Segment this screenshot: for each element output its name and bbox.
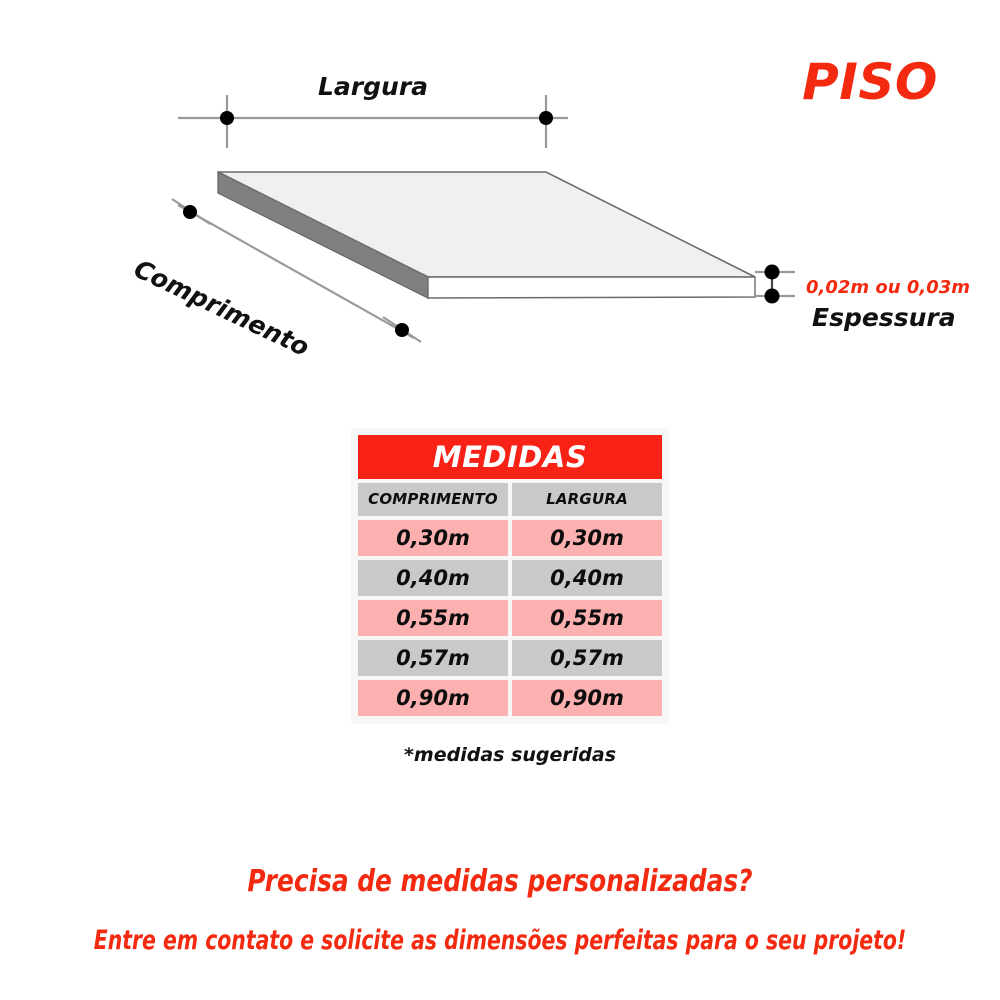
width-dimension-label: Largura <box>318 72 428 101</box>
slab-diagram-svg <box>0 0 1000 400</box>
cell-comprimento: 0,55m <box>358 600 508 636</box>
width-marker-right <box>539 111 553 125</box>
width-marker-left <box>220 111 234 125</box>
cta-subline: Entre em contato e solicite as dimensões… <box>80 925 920 956</box>
table-row: 0,30m 0,30m <box>358 520 662 556</box>
table-row: 0,55m 0,55m <box>358 600 662 636</box>
cell-largura: 0,57m <box>512 640 662 676</box>
thickness-marker-bottom <box>765 289 780 304</box>
slab-front-face <box>428 277 755 298</box>
cta-headline: Precisa de medidas personalizadas? <box>40 864 960 899</box>
cell-largura: 0,90m <box>512 680 662 716</box>
column-header-largura: LARGURA <box>512 483 662 516</box>
length-marker-top <box>183 205 197 219</box>
measures-table-title: MEDIDAS <box>358 435 662 479</box>
cell-largura: 0,55m <box>512 600 662 636</box>
cell-largura: 0,30m <box>512 520 662 556</box>
measures-table: MEDIDAS COMPRIMENTO LARGURA 0,30m 0,30m … <box>351 428 669 724</box>
column-header-comprimento: COMPRIMENTO <box>358 483 508 516</box>
thickness-dimension-label: Espessura <box>812 303 956 332</box>
cell-largura: 0,40m <box>512 560 662 596</box>
table-header-row: COMPRIMENTO LARGURA <box>358 483 662 516</box>
thickness-marker-top <box>765 265 780 280</box>
cell-comprimento: 0,57m <box>358 640 508 676</box>
cell-comprimento: 0,90m <box>358 680 508 716</box>
slab-diagram: Largura Comprimento 0,02m ou 0,03m Espes… <box>0 0 1000 400</box>
table-row: 0,40m 0,40m <box>358 560 662 596</box>
page-root: PISO <box>0 0 1000 1000</box>
width-dimension <box>178 95 568 148</box>
table-row: 0,57m 0,57m <box>358 640 662 676</box>
length-marker-bottom <box>395 323 409 337</box>
cell-comprimento: 0,30m <box>358 520 508 556</box>
cell-comprimento: 0,40m <box>358 560 508 596</box>
thickness-value-label: 0,02m ou 0,03m <box>806 277 970 298</box>
slab-solid <box>218 172 755 298</box>
table-row: 0,90m 0,90m <box>358 680 662 716</box>
thickness-dimension <box>755 265 795 304</box>
measures-table-footnote: *medidas sugeridas <box>351 744 669 766</box>
